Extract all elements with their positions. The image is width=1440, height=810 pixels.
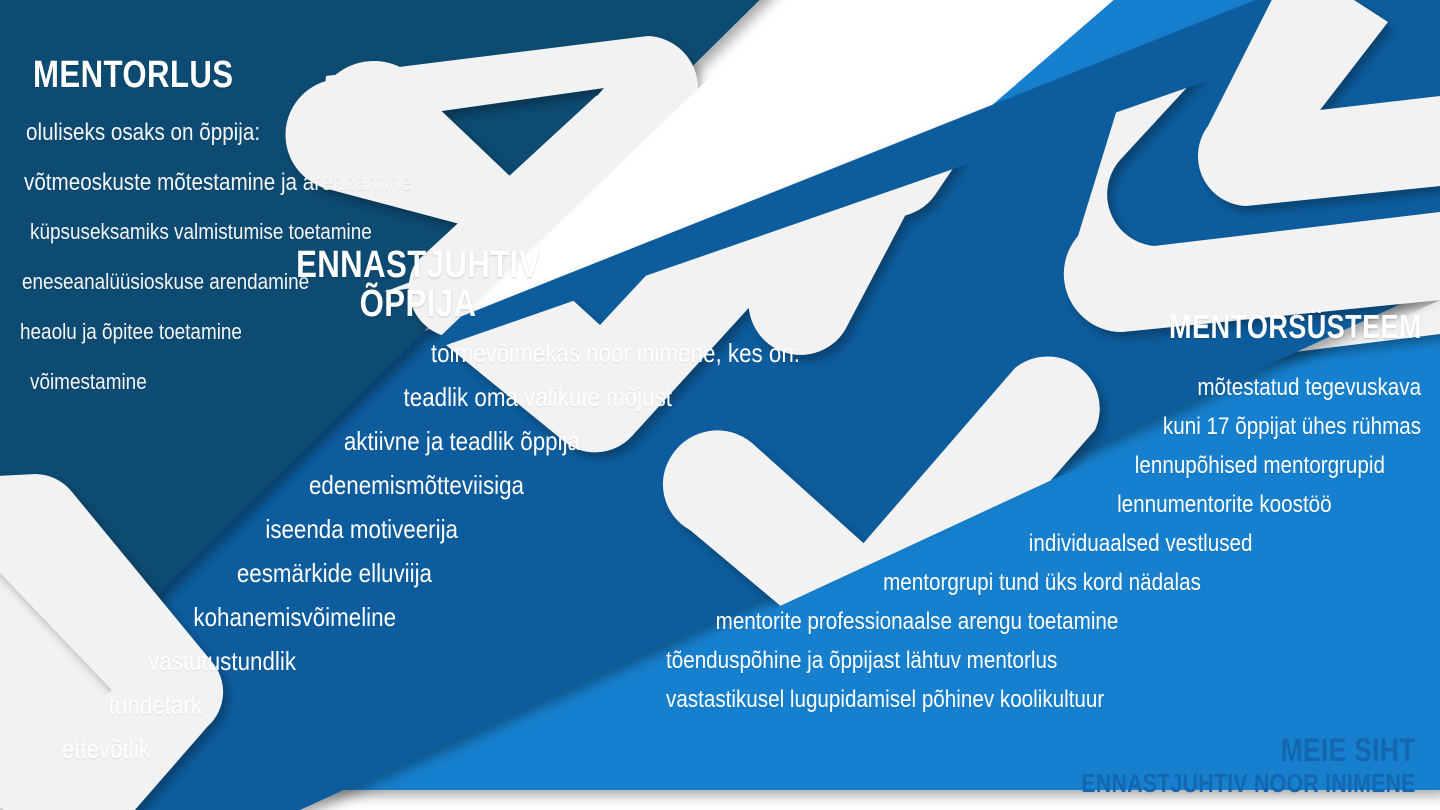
mentorsysteem-item: lennumentorite koostöö	[666, 493, 1440, 517]
mentorsysteem-heading: MENTORSÜSTEEM	[702, 310, 1440, 344]
mentorsysteem-item: kuni 17 õppijat ühes rühmas	[666, 415, 1440, 439]
mentorsysteem-item: mentorgrupi tund üks kord nädalas	[666, 571, 1440, 595]
mentorsysteem-item: mentorite professionaalse arengu toetami…	[666, 610, 1440, 634]
column-mentorsysteem: MENTORSÜSTEEM mõtestatud tegevuskava kun…	[540, 310, 1440, 712]
oppija-item: tundetark	[28, 692, 202, 718]
mentorsysteem-item: individuaalsed vestlused	[666, 532, 1440, 556]
mentorsysteem-item: lennupõhised mentorgrupid	[666, 454, 1440, 478]
oppija-heading-line1: ENNASTJUHTIV	[156, 246, 681, 285]
mentorsysteem-item: mõtestatud tegevuskava	[666, 376, 1440, 400]
mentorsysteem-item: tõenduspõhine ja õppijast lähtuv mentorl…	[666, 649, 1440, 673]
mentorlus-heading: MENTORLUS	[33, 56, 436, 95]
mentorlus-item: oluliseks osaks on õppija:	[26, 121, 451, 145]
oppija-item: iseenda motiveerija	[64, 516, 458, 542]
oppija-item: ettevõtlik	[21, 736, 150, 762]
mentorlus-item: võtmeoskuste mõtestamine ja arendamine	[24, 171, 451, 195]
mentorsysteem-item: vastastikusel lugupidamisel põhinev kool…	[666, 688, 1440, 712]
oppija-item: eesmärkide elluviija	[60, 560, 432, 586]
oppija-item: kohanemisvõimeline	[55, 604, 396, 630]
mentorlus-item: küpsuseksamiks valmistumise toetamine	[30, 221, 451, 243]
oppija-item: vastutustundlik	[41, 648, 296, 674]
mentorsysteem-item-list: mõtestatud tegevuskava kuni 17 õppijat ü…	[540, 376, 1440, 712]
oppija-item: aktiivne ja teadlik õppija	[81, 428, 580, 454]
goal-subtitle: ENNASTJUHTIV NOOR INIMENE	[1082, 770, 1416, 796]
poster-canvas: MENTORLUS oluliseks osaks on õppija: võt…	[0, 0, 1440, 810]
footer-goal: MEIE SIHT ENNASTJUHTIV NOOR INIMENE	[1008, 734, 1416, 796]
goal-title: MEIE SIHT	[1082, 734, 1416, 766]
oppija-item: edenemismõtteviisiga	[73, 472, 524, 498]
